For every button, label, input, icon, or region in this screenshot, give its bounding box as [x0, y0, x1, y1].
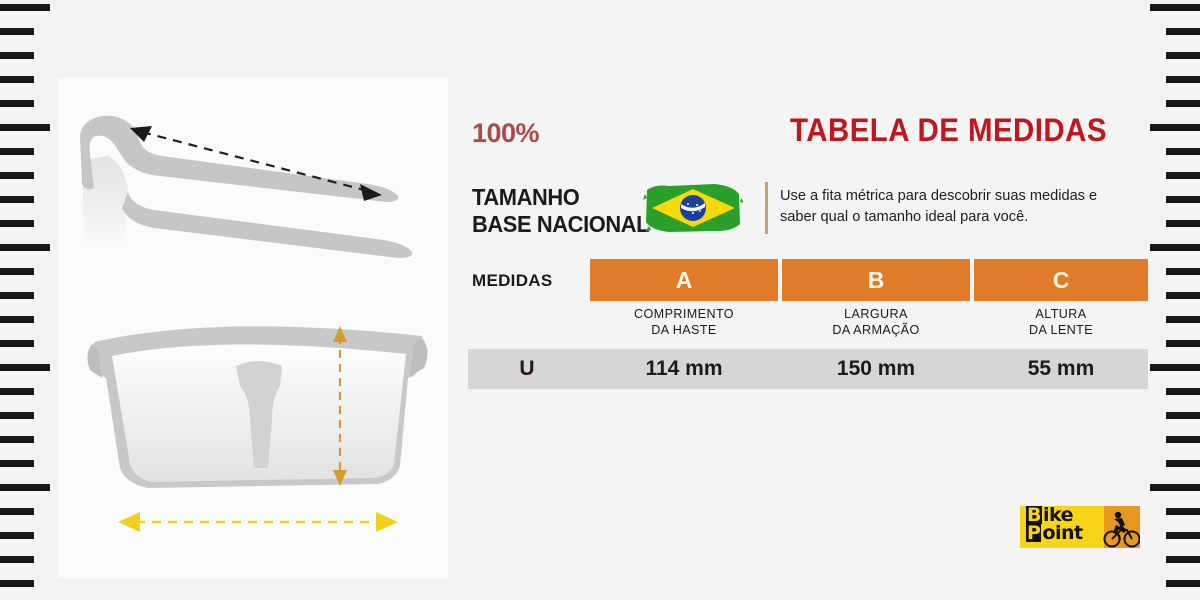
- ruler-tick: [0, 124, 50, 131]
- ruler-tick: [1166, 556, 1200, 563]
- ruler-tick: [0, 28, 34, 35]
- ruler-tick: [1166, 532, 1200, 539]
- ruler-tick: [0, 364, 50, 371]
- ruler-tick: [1150, 124, 1200, 131]
- bike-point-logo[interactable]: Bike Point: [1020, 502, 1140, 554]
- table-header-row: MEDIDAS A B C: [468, 255, 1148, 303]
- ruler-tick: [1166, 508, 1200, 515]
- ruler-tick: [0, 532, 34, 539]
- row-value-a: 114 mm: [590, 349, 778, 389]
- ruler-tick: [1166, 412, 1200, 419]
- ruler-tick: [0, 76, 34, 83]
- ruler-tick: [0, 172, 34, 179]
- ruler-tick: [0, 508, 34, 515]
- column-desc-a-line1: COMPRIMENTO: [590, 307, 778, 323]
- column-desc-b-line1: LARGURA: [782, 307, 970, 323]
- logo-letters-oint: oint: [1042, 522, 1082, 544]
- ruler-tick: [0, 436, 34, 443]
- sunglasses-front-view: [68, 308, 448, 568]
- ruler-tick: [0, 100, 34, 107]
- column-desc-b-line2: DA ARMAÇÃO: [782, 323, 970, 339]
- ruler-tick: [1166, 388, 1200, 395]
- ruler-tick: [0, 220, 34, 227]
- row-size-label: U: [472, 349, 582, 389]
- ruler-tick: [1150, 364, 1200, 371]
- ruler-tick: [1150, 4, 1200, 11]
- ruler-tick: [1166, 52, 1200, 59]
- ruler-tick: [0, 196, 34, 203]
- page-title: TABELA DE MEDIDAS: [790, 112, 1066, 149]
- ruler-tick: [1166, 28, 1200, 35]
- ruler-tick: [0, 268, 34, 275]
- column-desc-a: COMPRIMENTO DA HASTE: [590, 307, 778, 338]
- side-lower-temple: [122, 192, 412, 258]
- column-header-c: C: [974, 259, 1148, 301]
- brazil-flag-icon: [643, 180, 743, 236]
- ruler-tick: [1166, 436, 1200, 443]
- ruler-tick: [0, 340, 34, 347]
- logo-letter-p: P: [1026, 524, 1041, 542]
- ruler-tick: [0, 580, 34, 587]
- measurements-table: MEDIDAS A B C COMPRIMENTO DA HASTE LARGU…: [468, 255, 1148, 389]
- table-row: U 114 mm 150 mm 55 mm: [468, 349, 1148, 389]
- description-line2: saber qual o tamanho ideal para você.: [780, 207, 1150, 228]
- logo-text: Bike Point: [1026, 506, 1083, 542]
- size-standard-line2: BASE NACIONAL: [472, 211, 649, 238]
- ruler-tick: [1166, 292, 1200, 299]
- size-standard-line1: TAMANHO: [472, 184, 649, 211]
- table-subheader-row: COMPRIMENTO DA HASTE LARGURA DA ARMAÇÃO …: [468, 303, 1148, 345]
- ruler-tick: [1150, 244, 1200, 251]
- column-desc-b: LARGURA DA ARMAÇÃO: [782, 307, 970, 338]
- ruler-tick: [0, 244, 50, 251]
- ruler-tick: [0, 148, 34, 155]
- ruler-tick: [1166, 100, 1200, 107]
- column-desc-c: ALTURA DA LENTE: [974, 307, 1148, 338]
- ruler-tick: [0, 316, 34, 323]
- column-desc-c-line2: DA LENTE: [974, 323, 1148, 339]
- column-header-a: A: [590, 259, 778, 301]
- ruler-tick: [0, 4, 50, 11]
- ruler-tick: [1166, 76, 1200, 83]
- sunglasses-side-view: [68, 88, 448, 298]
- size-standard-label: TAMANHO BASE NACIONAL: [472, 184, 649, 238]
- ruler-tick: [0, 52, 34, 59]
- ruler-tick: [1166, 148, 1200, 155]
- logo-line2: Point: [1026, 524, 1083, 542]
- ruler-tick: [0, 388, 34, 395]
- product-illustration-panel: [58, 78, 448, 578]
- description-line1: Use a fita métrica para descobrir suas m…: [780, 186, 1150, 207]
- ruler-tick: [1166, 268, 1200, 275]
- row-value-b: 150 mm: [782, 349, 970, 389]
- frame-width-arrow-head-left: [118, 512, 140, 532]
- row-value-c: 55 mm: [974, 349, 1148, 389]
- ruler-tick: [0, 292, 34, 299]
- ruler-tick: [0, 412, 34, 419]
- column-desc-a-line2: DA HASTE: [590, 323, 778, 339]
- ruler-tick: [0, 556, 34, 563]
- ruler-tick: [1166, 340, 1200, 347]
- frame-width-arrow-head-right: [376, 512, 398, 532]
- ruler-tick: [1166, 196, 1200, 203]
- ruler-tick: [1166, 460, 1200, 467]
- ruler-tick: [1166, 580, 1200, 587]
- ruler-tick: [1166, 172, 1200, 179]
- ruler-tick: [0, 484, 50, 491]
- ruler-tick: [1150, 484, 1200, 491]
- ruler-tick: [0, 460, 34, 467]
- column-header-b: B: [782, 259, 970, 301]
- brand-label: 100%: [472, 118, 539, 149]
- description-divider: [765, 182, 768, 234]
- ruler-right: [1140, 0, 1200, 600]
- table-corner-label: MEDIDAS: [472, 271, 553, 291]
- ruler-left: [0, 0, 60, 600]
- ruler-tick: [1166, 220, 1200, 227]
- column-desc-c-line1: ALTURA: [974, 307, 1148, 323]
- description-text: Use a fita métrica para descobrir suas m…: [780, 186, 1150, 227]
- ruler-tick: [1166, 316, 1200, 323]
